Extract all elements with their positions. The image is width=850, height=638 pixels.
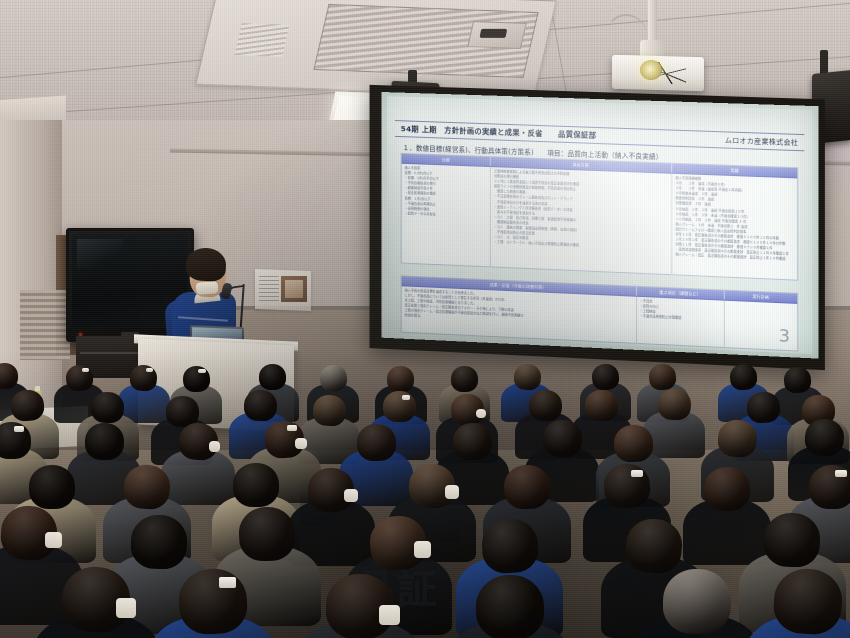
audience-face-mask [414, 541, 431, 557]
audience-member-head [662, 568, 732, 635]
table-col-goal: 納入不良率目標：0.5件/月以下・前期：1件/月平均以下・不具合報告書の発行・顧… [402, 164, 491, 268]
audience-member-head [91, 391, 125, 423]
audience-face-mask [45, 532, 62, 548]
audience-member-head [65, 364, 94, 392]
audience-member-head [804, 418, 845, 457]
poster-image [281, 276, 307, 302]
audience-face-mask [379, 605, 399, 625]
audience-member-head [259, 364, 286, 390]
audience-member-head [703, 466, 751, 512]
poster-text-lines [259, 276, 279, 302]
audience-face-mask [476, 409, 486, 418]
projector-lens-icon [640, 60, 662, 80]
presentation-room-photo: 54期 上期 方針計画の実績と成果・反省 品質保証部 ムロオカ産業株式会社 １．… [0, 0, 850, 638]
ac-vent-icon [235, 23, 290, 57]
ac-sensor-icon [467, 21, 527, 49]
audience-member-head [503, 464, 550, 509]
audience-member-head [746, 391, 781, 424]
audience-face-mask [295, 438, 307, 449]
audience-member-head [232, 463, 279, 508]
hair-clip [287, 425, 297, 431]
audience-member-head [312, 394, 346, 427]
audience-member-head [513, 364, 541, 391]
hair-clip [835, 470, 847, 477]
audience-member-head [763, 512, 821, 568]
audience-face-mask [116, 598, 136, 618]
audience-member-head [238, 506, 296, 561]
audience-member-head [657, 389, 691, 421]
audience-face-mask [445, 485, 459, 498]
audience-member-head [28, 465, 75, 510]
audience-member-head [451, 365, 479, 391]
audience-member-head [387, 366, 414, 392]
audience-member-head [451, 421, 493, 461]
audience-member-head [585, 390, 618, 421]
hair-clip [631, 470, 643, 477]
hair-clip [198, 369, 205, 373]
table-col-results: 納入不良実績推移４月 ２件 達成（不適合０件）５月 １件 未達（達成率 不適合１… [672, 174, 797, 281]
slide-top-table: 目標 具体方策 実績 納入不良率目標：0.5件/月以下・前期：1件/月平均以下・… [401, 153, 798, 281]
audience-member-head [182, 366, 210, 393]
audience-face-mask [209, 441, 221, 452]
hair-clip [402, 395, 410, 400]
audience-member-head [243, 389, 277, 421]
audience-member-head [613, 424, 653, 462]
hair-clip [82, 368, 89, 372]
audience-member-head [356, 423, 395, 460]
audience-member-head [130, 514, 187, 569]
audience-member-head [475, 574, 545, 638]
slide-header-title: 54期 上期 方針計画の実績と成果・反省 品質保証部 [401, 123, 597, 141]
hair-clip [14, 426, 24, 432]
table-body: 納入不良率目標：0.5件/月以下・前期：1件/月平均以下・不具合報告書の発行・顧… [402, 164, 797, 281]
projection-screen: 54期 上期 方針計画の実績と成果・反省 品質保証部 ムロオカ産業株式会社 １．… [381, 92, 818, 359]
audience-member-head [543, 420, 582, 457]
table-col-measures: 工程内検査体制による後工程不良流出防止の予防処置対策書の発行徹底２ヶ月に１度品質… [491, 167, 673, 275]
audience-member-head [85, 423, 124, 460]
slide-company-name: ムロオカ産業株式会社 [725, 135, 798, 148]
tv-reflection [77, 239, 123, 269]
audience-member-head [383, 391, 416, 422]
audience-member-head [529, 390, 562, 421]
presentation-slide: 54期 上期 方針計画の実績と成果・反省 品質保証部 ムロオカ産業株式会社 １．… [387, 96, 812, 354]
audience [0, 330, 850, 638]
audience-member-head [319, 364, 348, 392]
audience-member-head [591, 363, 620, 391]
presenter-face-mask [196, 281, 219, 295]
audience-face-mask [344, 489, 358, 502]
audience-member-head [177, 568, 249, 637]
hair-clip [219, 577, 237, 587]
